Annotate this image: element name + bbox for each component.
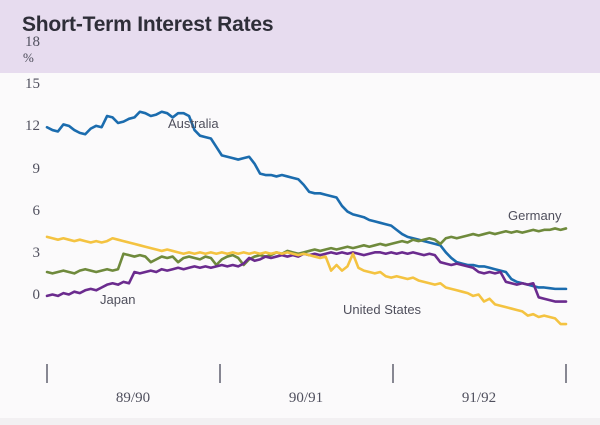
bottom-strip xyxy=(0,418,600,425)
series-label-japan: Japan xyxy=(100,292,135,307)
x-axis-tick-label: 90/91 xyxy=(289,390,323,407)
chart-screenshot: Short-Term Interest Rates % 1815129630 8… xyxy=(0,0,600,425)
series-label-germany: Germany xyxy=(508,208,561,223)
series-label-united-states: United States xyxy=(343,302,421,317)
x-axis-tick-label: 91/92 xyxy=(462,390,496,407)
x-axis-tick-label: 89/90 xyxy=(116,390,150,407)
series-label-australia: Australia xyxy=(168,116,219,131)
